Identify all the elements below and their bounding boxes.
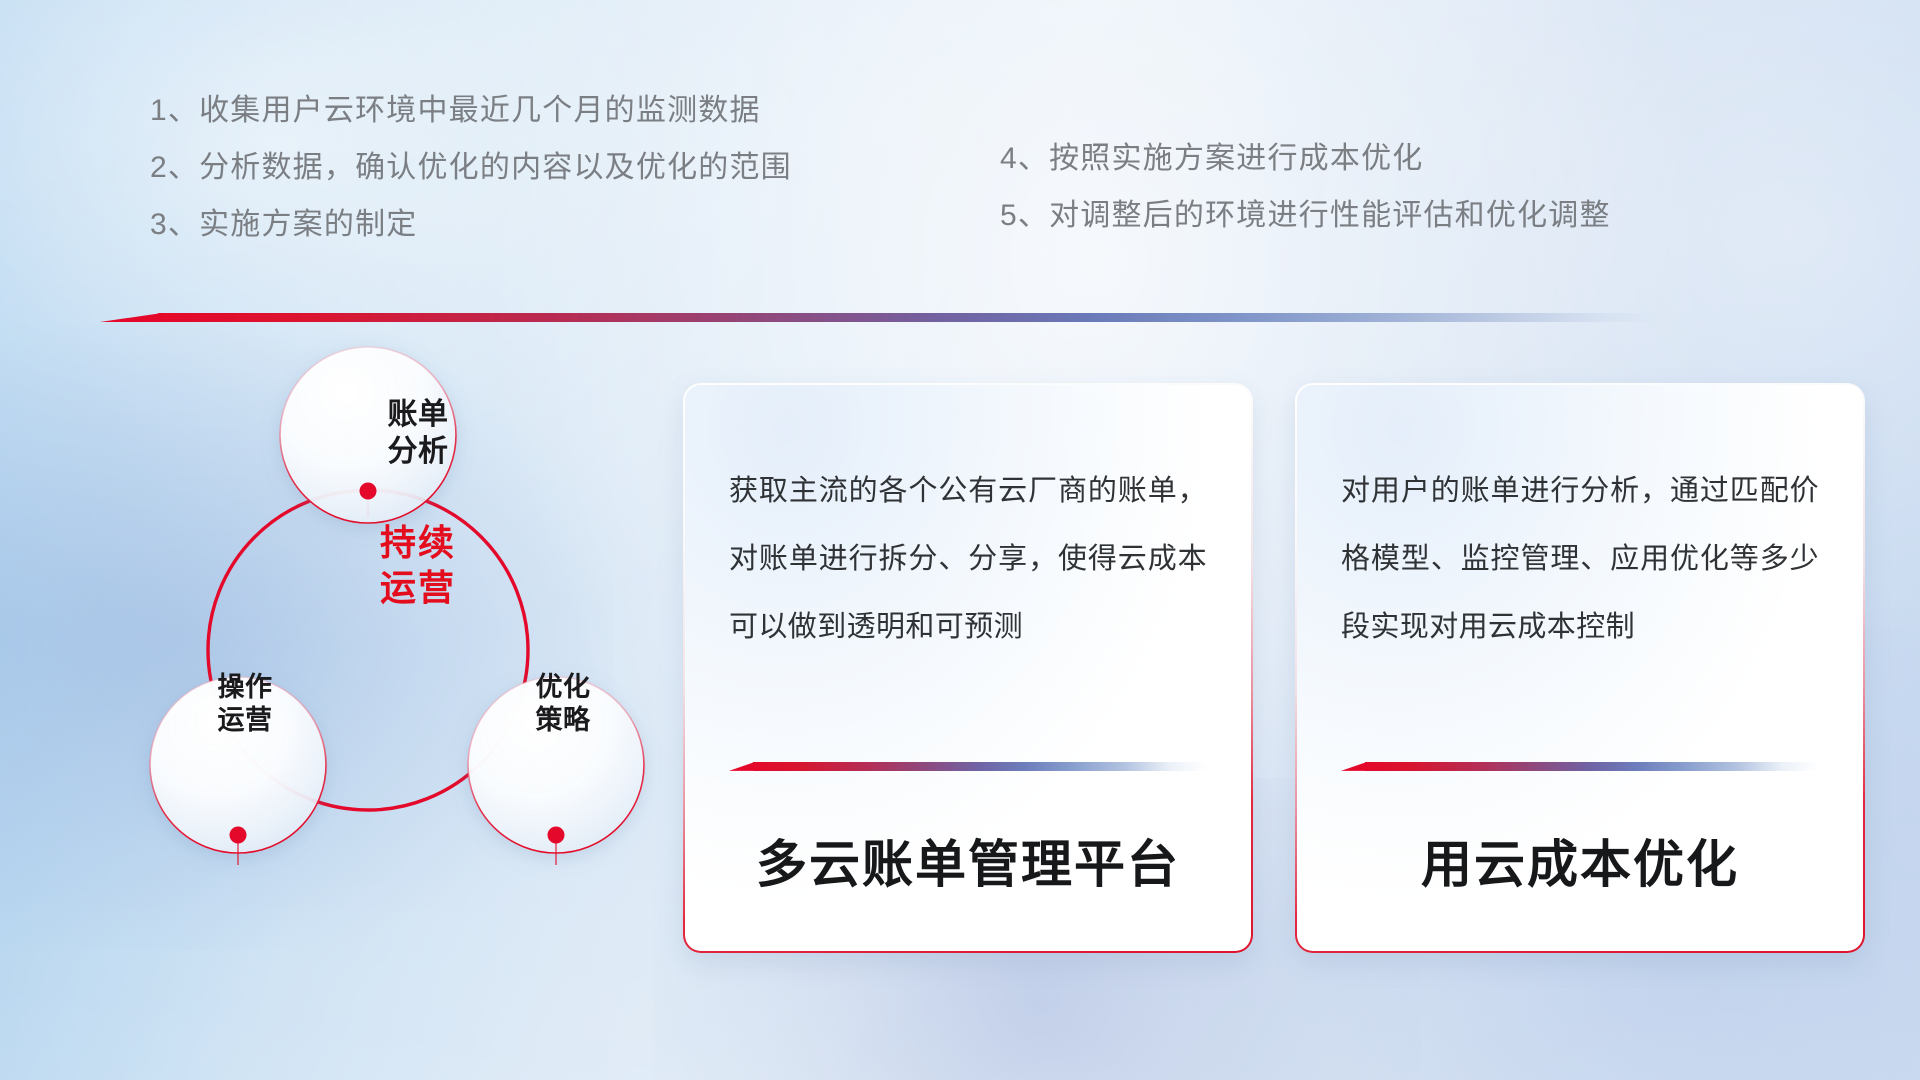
process-step-3: 3、实施方案的制定 xyxy=(150,210,792,240)
card-cloud-cost-optimization[interactable]: 对用户的账单进行分析，通过匹配价格模型、监控管理、应用优化等多少段实现对用云成本… xyxy=(1295,383,1865,953)
diagram-node-billing-line2: 分析 xyxy=(333,434,503,471)
process-step-2: 2、分析数据，确认优化的内容以及优化的范围 xyxy=(150,153,792,183)
process-steps-left-column: 1、收集用户云环境中最近几个月的监测数据 2、分析数据，确认优化的内容以及优化的… xyxy=(150,96,792,240)
process-step-1: 1、收集用户云环境中最近几个月的监测数据 xyxy=(150,96,792,126)
card-rule-gradient-bar xyxy=(1365,762,1819,771)
process-steps-right-column: 4、按照实施方案进行成本优化 5、对调整后的环境进行性能评估和优化调整 xyxy=(1000,144,1611,231)
process-step-4: 4、按照实施方案进行成本优化 xyxy=(1000,144,1611,174)
card-multi-cloud-billing-platform[interactable]: 获取主流的各个公有云厂商的账单，对账单进行拆分、分享，使得云成本可以做到透明和可… xyxy=(683,383,1253,953)
card-inner-surface: 对用户的账单进行分析，通过匹配价格模型、监控管理、应用优化等多少段实现对用云成本… xyxy=(1297,385,1863,951)
card-accent-rule xyxy=(729,762,1207,771)
card-rule-tapered-tip xyxy=(729,762,755,771)
divider-gradient-bar xyxy=(158,313,1660,322)
card-inner-surface: 获取主流的各个公有云厂商的账单，对账单进行拆分、分享，使得云成本可以做到透明和可… xyxy=(685,385,1251,951)
card-body-text: 获取主流的各个公有云厂商的账单，对账单进行拆分、分享，使得云成本可以做到透明和可… xyxy=(729,457,1207,661)
diagram-node-billing-line1: 账单 xyxy=(333,397,503,434)
diagram-center-label-line2: 运营 xyxy=(318,566,518,611)
process-steps-list: 1、收集用户云环境中最近几个月的监测数据 2、分析数据，确认优化的内容以及优化的… xyxy=(0,0,1920,300)
card-rule-gradient-bar xyxy=(753,762,1207,771)
diagram-node-label-operations: 操作 运营 xyxy=(160,671,330,737)
card-title: 多云账单管理平台 xyxy=(729,837,1207,893)
section-divider xyxy=(100,313,1660,322)
diagram-node-label-billing-analysis: 账单 分析 xyxy=(333,397,503,470)
diagram-node-operations-line2: 运营 xyxy=(160,704,330,737)
continuous-operations-diagram: 账单 分析 操作 运营 优化 策略 持续 运营 xyxy=(88,345,648,955)
process-step-5: 5、对调整后的环境进行性能评估和优化调整 xyxy=(1000,201,1611,231)
diagram-node-strategy-line1: 优化 xyxy=(478,671,648,704)
diagram-dot-left xyxy=(230,827,247,844)
diagram-dot-top xyxy=(360,483,377,500)
diagram-node-strategy-line2: 策略 xyxy=(478,704,648,737)
diagram-dot-right xyxy=(548,827,565,844)
card-rule-tapered-tip xyxy=(1341,762,1367,771)
divider-tapered-tip xyxy=(100,313,162,322)
diagram-node-operations-line1: 操作 xyxy=(160,671,330,704)
card-accent-rule xyxy=(1341,762,1819,771)
diagram-center-label: 持续 运营 xyxy=(318,521,518,610)
diagram-node-label-optimization-strategy: 优化 策略 xyxy=(478,671,648,737)
diagram-center-label-line1: 持续 xyxy=(318,521,518,566)
card-title: 用云成本优化 xyxy=(1341,837,1819,893)
card-body-text: 对用户的账单进行分析，通过匹配价格模型、监控管理、应用优化等多少段实现对用云成本… xyxy=(1341,457,1819,661)
